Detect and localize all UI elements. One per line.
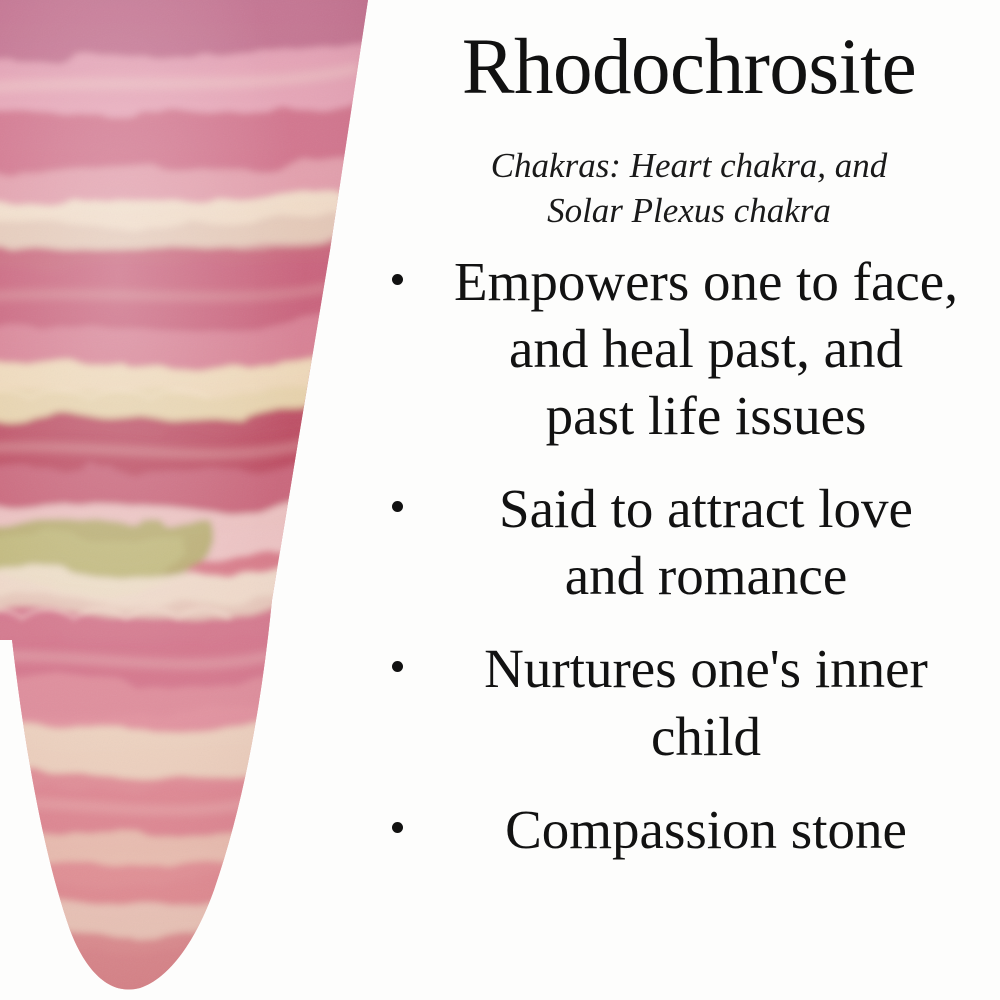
page-title: Rhodochrosite xyxy=(378,28,1000,107)
list-item-text: Compassion stone xyxy=(418,796,994,863)
text-panel: Rhodochrosite Chakras: Heart chakra, and… xyxy=(378,0,1000,1000)
list-item-text: Empowers one to face, and heal past, and… xyxy=(418,248,994,449)
list-item-text: Nurtures one's inner child xyxy=(418,635,994,769)
chakra-subtitle: Chakras: Heart chakra, and Solar Plexus … xyxy=(378,144,1000,234)
list-item-line: Compassion stone xyxy=(418,796,994,863)
list-item: Compassion stone xyxy=(384,796,994,863)
bullet-dot-icon xyxy=(392,501,403,512)
rhodochrosite-stone-icon xyxy=(0,0,400,1000)
bullet-dot-icon xyxy=(392,822,403,833)
chakra-subtitle-line-2: Solar Plexus chakra xyxy=(378,189,1000,234)
list-item: Nurtures one's inner child xyxy=(384,635,994,769)
bullet-dot-icon xyxy=(392,661,403,672)
list-item-line: and romance xyxy=(418,542,994,609)
chakra-subtitle-line-1: Chakras: Heart chakra, and xyxy=(378,144,1000,189)
property-list: Empowers one to face, and heal past, and… xyxy=(384,248,994,863)
rhodochrosite-info-card: Rhodochrosite Chakras: Heart chakra, and… xyxy=(0,0,1000,1000)
list-item: Said to attract love and romance xyxy=(384,475,994,609)
bullet-dot-icon xyxy=(392,274,403,285)
list-item-line: child xyxy=(418,703,994,770)
list-item-line: Said to attract love xyxy=(418,475,994,542)
list-item-line: Nurtures one's inner xyxy=(418,635,994,702)
list-item: Empowers one to face, and heal past, and… xyxy=(384,248,994,449)
list-item-line: and heal past, and xyxy=(418,315,994,382)
stone-image-panel xyxy=(0,0,400,1000)
list-item-line: past life issues xyxy=(418,382,994,449)
list-item-line: Empowers one to face, xyxy=(418,248,994,315)
list-item-text: Said to attract love and romance xyxy=(418,475,994,609)
